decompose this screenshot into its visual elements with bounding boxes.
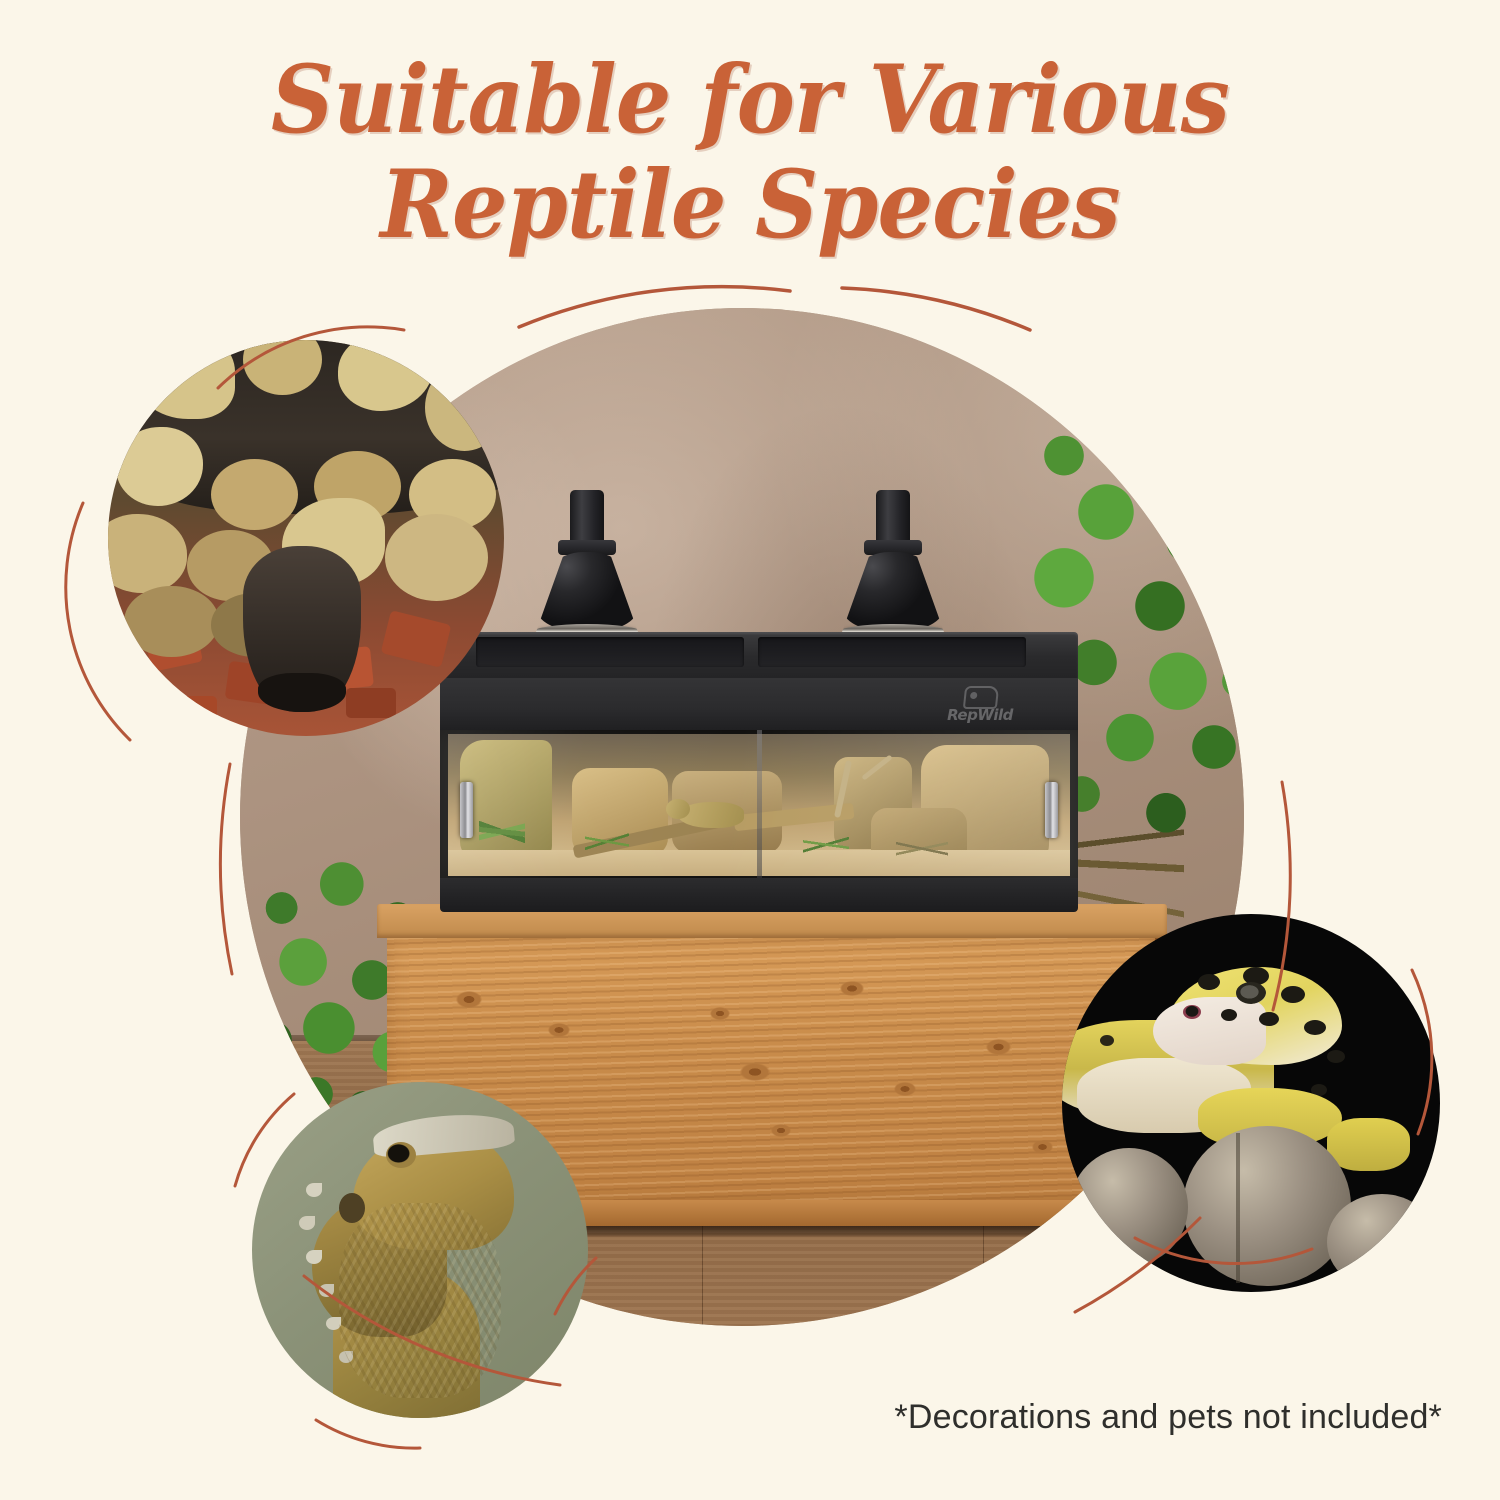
- decor-walnut-left: [1070, 1148, 1188, 1266]
- lamp-dome-shade: [842, 552, 944, 632]
- disclaimer-footnote: *Decorations and pets not included*: [0, 1398, 1442, 1437]
- page-title: Suitable for Various Reptile Species: [0, 48, 1500, 259]
- title-line-2: Reptile Species: [53, 153, 1448, 258]
- decor-walnut-center: [1183, 1126, 1351, 1286]
- bearded-dragon-photo: [252, 1082, 588, 1418]
- terrarium-glass-doors: [440, 730, 1078, 878]
- lamp-neck-icon: [570, 490, 604, 546]
- ball-python-photo: [108, 340, 504, 736]
- leopard-gecko-photo: [1062, 914, 1440, 1292]
- brand-logo: RepWild: [934, 686, 1026, 726]
- lamp-neck-icon: [876, 490, 910, 546]
- heat-lamp-left: [536, 490, 638, 640]
- brand-name: RepWild: [934, 706, 1026, 724]
- glass-door-handle-right[interactable]: [1045, 782, 1058, 838]
- glass-door-handle-left[interactable]: [460, 782, 473, 838]
- lamp-reflector-rim: [839, 624, 947, 640]
- terrarium-enclosure: RepWild: [440, 632, 1078, 912]
- glass-door-divider: [757, 730, 762, 878]
- lamp-dome-shade: [536, 552, 638, 632]
- vent-panel-right: [758, 637, 1026, 667]
- poster-canvas: RepWild: [0, 0, 1500, 1500]
- vent-panel-left: [476, 637, 744, 667]
- terrarium-base-frame: [440, 878, 1078, 912]
- heat-lamp-right: [842, 490, 944, 640]
- gecko-eye: [1236, 982, 1266, 1004]
- title-line-1: Suitable for Various: [53, 48, 1448, 153]
- lamp-reflector-rim: [533, 624, 641, 640]
